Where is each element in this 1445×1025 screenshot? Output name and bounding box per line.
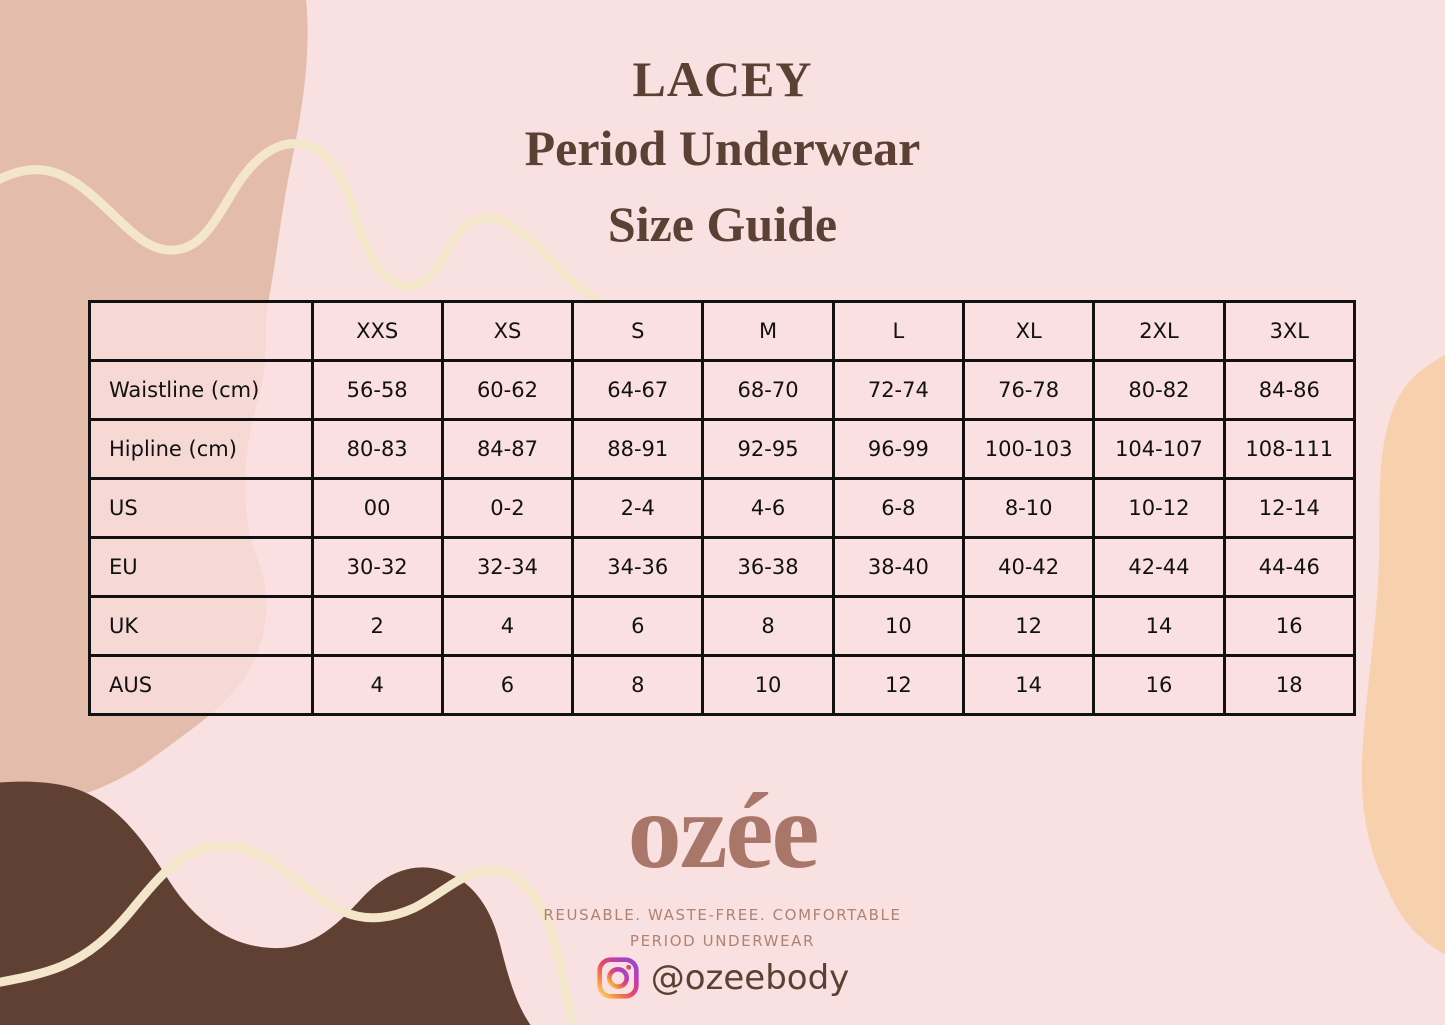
cell-aus-xl: 14	[964, 656, 1094, 715]
row-label-waistline: Waistline (cm)	[90, 361, 313, 420]
cell-waistline-xxs: 56-58	[312, 361, 442, 420]
cell-hipline-2xl: 104-107	[1094, 420, 1224, 479]
cell-aus-xs: 6	[442, 656, 572, 715]
cell-waistline-xl: 76-78	[964, 361, 1094, 420]
page-title: LACEY Period Underwear Size Guide	[0, 48, 1445, 262]
cell-aus-2xl: 16	[1094, 656, 1224, 715]
cell-us-xs: 0-2	[442, 479, 572, 538]
cell-us-m: 4-6	[703, 479, 833, 538]
table-row: UK 2 4 6 8 10 12 14 16	[90, 597, 1355, 656]
title-line-product: Period Underwear	[0, 110, 1445, 186]
cell-hipline-s: 88-91	[573, 420, 703, 479]
size-guide-table: XXS XS S M L XL 2XL 3XL Waistline (cm) 5…	[88, 300, 1356, 716]
tagline-line-1: REUSABLE. WASTE-FREE. COMFORTABLE	[0, 902, 1445, 928]
cell-uk-l: 10	[833, 597, 963, 656]
title-line-brand: LACEY	[0, 48, 1445, 110]
table-corner-cell	[90, 302, 313, 361]
cell-uk-xl: 12	[964, 597, 1094, 656]
column-header-xl: XL	[964, 302, 1094, 361]
tagline-line-2: PERIOD UNDERWEAR	[0, 928, 1445, 954]
cell-eu-l: 38-40	[833, 538, 963, 597]
cell-uk-m: 8	[703, 597, 833, 656]
cell-aus-s: 8	[573, 656, 703, 715]
cell-waistline-2xl: 80-82	[1094, 361, 1224, 420]
cell-waistline-l: 72-74	[833, 361, 963, 420]
cell-hipline-xs: 84-87	[442, 420, 572, 479]
cell-hipline-3xl: 108-111	[1224, 420, 1354, 479]
table-header-row: XXS XS S M L XL 2XL 3XL	[90, 302, 1355, 361]
cell-eu-xs: 32-34	[442, 538, 572, 597]
row-label-us: US	[90, 479, 313, 538]
cell-waistline-s: 64-67	[573, 361, 703, 420]
cell-uk-3xl: 16	[1224, 597, 1354, 656]
cell-uk-xs: 4	[442, 597, 572, 656]
row-label-aus: AUS	[90, 656, 313, 715]
title-line-guide: Size Guide	[0, 186, 1445, 262]
column-header-3xl: 3XL	[1224, 302, 1354, 361]
cell-us-2xl: 10-12	[1094, 479, 1224, 538]
cell-waistline-m: 68-70	[703, 361, 833, 420]
cell-us-3xl: 12-14	[1224, 479, 1354, 538]
cell-aus-3xl: 18	[1224, 656, 1354, 715]
cell-us-l: 6-8	[833, 479, 963, 538]
cell-uk-xxs: 2	[312, 597, 442, 656]
instagram-handle[interactable]: @ozeebody	[651, 958, 850, 998]
column-header-s: S	[573, 302, 703, 361]
column-header-m: M	[703, 302, 833, 361]
cell-aus-xxs: 4	[312, 656, 442, 715]
cell-aus-m: 10	[703, 656, 833, 715]
cell-eu-xl: 40-42	[964, 538, 1094, 597]
cell-us-s: 2-4	[573, 479, 703, 538]
cell-hipline-m: 92-95	[703, 420, 833, 479]
table-row: Hipline (cm) 80-83 84-87 88-91 92-95 96-…	[90, 420, 1355, 479]
row-label-hipline: Hipline (cm)	[90, 420, 313, 479]
cell-waistline-3xl: 84-86	[1224, 361, 1354, 420]
cell-uk-s: 6	[573, 597, 703, 656]
table-row: US 00 0-2 2-4 4-6 6-8 8-10 10-12 12-14	[90, 479, 1355, 538]
table-row: EU 30-32 32-34 34-36 36-38 38-40 40-42 4…	[90, 538, 1355, 597]
column-header-2xl: 2XL	[1094, 302, 1224, 361]
brand-logo: ozée	[0, 778, 1445, 886]
table-row: AUS 4 6 8 10 12 14 16 18	[90, 656, 1355, 715]
row-label-uk: UK	[90, 597, 313, 656]
brand-tagline: REUSABLE. WASTE-FREE. COMFORTABLE PERIOD…	[0, 902, 1445, 954]
cell-eu-s: 34-36	[573, 538, 703, 597]
cell-eu-3xl: 44-46	[1224, 538, 1354, 597]
cell-waistline-xs: 60-62	[442, 361, 572, 420]
instagram-row[interactable]: @ozeebody	[0, 956, 1445, 1000]
column-header-xs: XS	[442, 302, 572, 361]
cell-hipline-xl: 100-103	[964, 420, 1094, 479]
cell-aus-l: 12	[833, 656, 963, 715]
table-row: Waistline (cm) 56-58 60-62 64-67 68-70 7…	[90, 361, 1355, 420]
instagram-icon[interactable]	[596, 956, 640, 1000]
cell-uk-2xl: 14	[1094, 597, 1224, 656]
row-label-eu: EU	[90, 538, 313, 597]
column-header-l: L	[833, 302, 963, 361]
cell-hipline-xxs: 80-83	[312, 420, 442, 479]
cell-hipline-l: 96-99	[833, 420, 963, 479]
cell-us-xl: 8-10	[964, 479, 1094, 538]
cell-eu-2xl: 42-44	[1094, 538, 1224, 597]
column-header-xxs: XXS	[312, 302, 442, 361]
cell-eu-xxs: 30-32	[312, 538, 442, 597]
cell-us-xxs: 00	[312, 479, 442, 538]
cell-eu-m: 36-38	[703, 538, 833, 597]
